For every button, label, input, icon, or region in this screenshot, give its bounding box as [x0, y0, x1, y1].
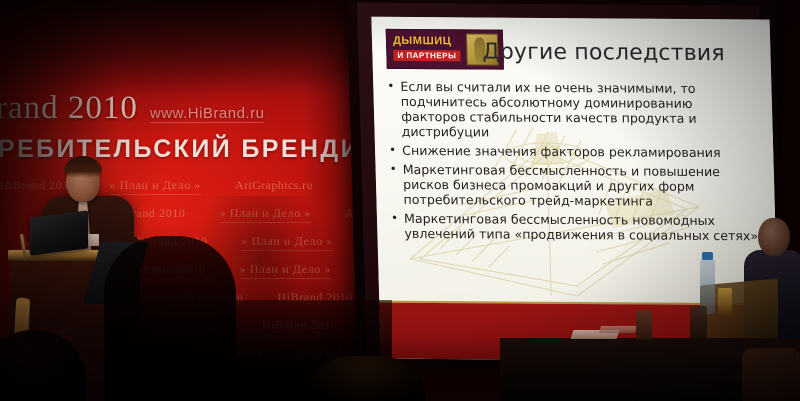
- slide-bullet-item: • Снижение значения факторов рекламирова…: [389, 143, 762, 161]
- slide-bullet-text: Маркетинговая бессмысленность новомодных…: [404, 211, 764, 243]
- logo-text-block: ДЫМШИЦ И ПАРТНЕРЫ: [387, 30, 467, 69]
- logo-company-name: ДЫМШИЦ: [393, 36, 460, 48]
- attendee-head: [758, 218, 790, 256]
- table-drinking-glass-secondary: [690, 306, 707, 340]
- slide-bullet-item: • Маркетинговая бессмысленность и повыше…: [389, 162, 762, 210]
- bullet-marker-icon: •: [389, 143, 397, 158]
- presenter-hair: [64, 156, 102, 178]
- slide-bullet-text: Если вы считали их не очень значимыми, т…: [400, 79, 761, 141]
- podium-laptop-screen: [30, 210, 88, 255]
- slide-title: Другие последствия: [482, 39, 759, 66]
- event-website-text: www.HiBrand.ru: [150, 106, 265, 123]
- slide-bullet-text: Маркетинговая бессмысленность и повышени…: [402, 162, 762, 209]
- slide-bullet-list: • Если вы считали их не очень значимыми,…: [387, 79, 764, 247]
- bullet-marker-icon: •: [391, 211, 399, 241]
- table-papers-secondary: [599, 326, 637, 333]
- bullet-marker-icon: •: [387, 79, 396, 139]
- foreground-chair: [742, 348, 800, 401]
- presentation-photo-scene: HiBrand 2010 www.HiBrand.ru ПОТРЕБИТЕЛЬС…: [0, 0, 800, 401]
- audience-silhouette: [104, 236, 236, 401]
- beverage-container: [718, 288, 732, 318]
- slide-bullet-text: Снижение значения факторов рекламировани…: [402, 143, 762, 160]
- table-drinking-glass: [636, 310, 652, 340]
- water-bottle-cap: [702, 252, 713, 260]
- slide-bullet-item: • Если вы считали их не очень значимыми,…: [387, 79, 761, 142]
- slide-bullet-item: • Маркетинговая бессмысленность новомодн…: [391, 211, 764, 244]
- bullet-marker-icon: •: [389, 162, 397, 207]
- logo-company-suffix: И ПАРТНЕРЫ: [393, 50, 460, 62]
